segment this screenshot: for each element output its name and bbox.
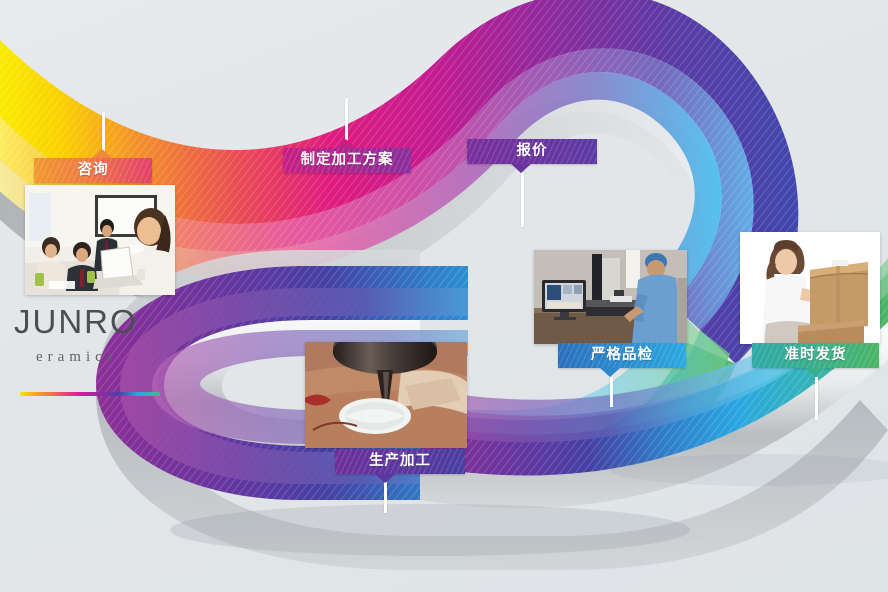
- step-badge-delivery[interactable]: 准时发货: [752, 343, 879, 368]
- step-badge-consultation[interactable]: 咨询: [34, 158, 152, 183]
- step-badge-inspection[interactable]: 严格品检: [558, 343, 686, 368]
- step-badge-processing-plan[interactable]: 制定加工方案: [283, 148, 411, 173]
- brand-name: JUNRO: [14, 305, 194, 338]
- step-label-delivery: 准时发货: [785, 347, 847, 363]
- badge-arrow-down-icon: [805, 368, 825, 377]
- stem-step-6: [815, 377, 818, 420]
- badge-arrow-down-icon: [375, 474, 395, 483]
- step-label-production: 生产加工: [369, 453, 431, 469]
- badge-arrow-down-icon: [600, 368, 620, 377]
- stem-step-3: [521, 173, 524, 227]
- stem-step-5: [610, 377, 613, 407]
- stem-step-4: [384, 482, 387, 513]
- step-badge-quotation[interactable]: 报价: [467, 139, 597, 164]
- photo-production-machining: [305, 342, 467, 448]
- flow-infographic-canvas: JUNRO eramics: [0, 0, 888, 592]
- step-badge-production[interactable]: 生产加工: [335, 449, 465, 474]
- brand-tagline: eramics: [36, 349, 194, 366]
- brand-gradient-rule: [20, 392, 160, 396]
- photo-quality-inspection: [534, 250, 687, 344]
- photo-delivery: [740, 232, 880, 344]
- badge-arrow-up-icon: [92, 149, 112, 158]
- photo-consultation: [25, 185, 175, 295]
- brand-logo: JUNRO eramics: [14, 305, 194, 396]
- step-label-quotation: 报价: [517, 143, 548, 159]
- step-label-consultation: 咨询: [78, 162, 109, 178]
- badge-arrow-up-icon: [336, 139, 356, 148]
- step-label-inspection: 严格品检: [591, 347, 653, 363]
- badge-arrow-down-icon: [511, 164, 531, 173]
- step-label-processing-plan: 制定加工方案: [301, 152, 394, 168]
